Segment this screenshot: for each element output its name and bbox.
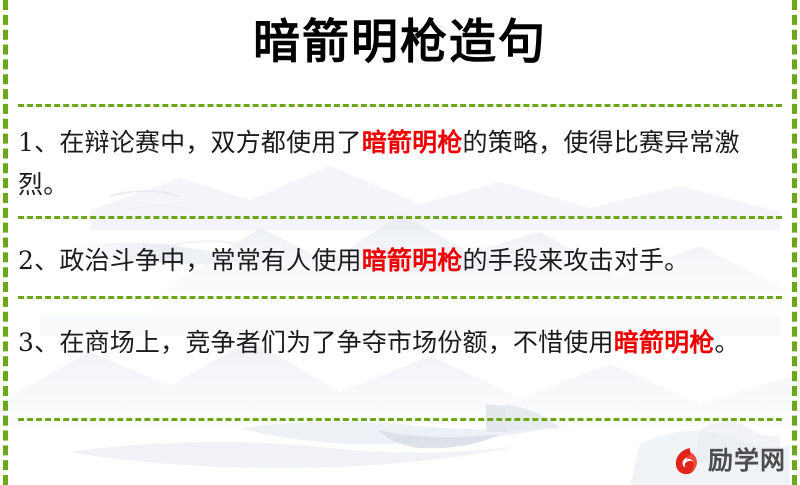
logo-text: 励学网 xyxy=(708,445,786,477)
separator-2 xyxy=(18,296,782,299)
sentence-card-page: 暗箭明枪造句 1、在辩论赛中，双方都使用了暗箭明枪的策略，使得比赛异常激烈。 2… xyxy=(0,0,800,485)
sentence-text-3-part-3: 。 xyxy=(715,328,740,357)
sentence-text-1-part-1: 在辩论赛中，双方都使用了 xyxy=(59,128,361,157)
idiom-highlight-3: 暗箭明枪 xyxy=(614,328,715,357)
frame-edge-right xyxy=(792,0,797,485)
separator-1 xyxy=(18,216,782,219)
separator-bottom xyxy=(18,418,782,421)
sentence-text-2-part-3: 的手段来攻击对手。 xyxy=(463,246,690,275)
sentence-item-3: 3、在商场上，竞争者们为了争夺市场份额，不惜使用暗箭明枪。 xyxy=(18,322,784,364)
sentence-item-2: 2、政治斗争中，常常有人使用暗箭明枪的手段来攻击对手。 xyxy=(18,240,784,282)
separator-top xyxy=(18,104,782,107)
idiom-highlight-2: 暗箭明枪 xyxy=(362,246,463,275)
site-logo[interactable]: 励学网 xyxy=(670,443,786,479)
sentence-item-1: 1、在辩论赛中，双方都使用了暗箭明枪的策略，使得比赛异常激烈。 xyxy=(18,122,784,206)
page-title: 暗箭明枪造句 xyxy=(0,12,800,74)
sentence-number-1: 1、 xyxy=(18,128,59,157)
flame-swirl-icon xyxy=(670,445,702,477)
sentence-text-2-part-1: 政治斗争中，常常有人使用 xyxy=(59,246,361,275)
sentence-number-3: 3、 xyxy=(18,328,59,357)
sentence-number-2: 2、 xyxy=(18,246,59,275)
frame-edge-left xyxy=(3,0,8,485)
sentence-text-3-part-1: 在商场上，竞争者们为了争夺市场份额，不惜使用 xyxy=(59,328,613,357)
idiom-highlight-1: 暗箭明枪 xyxy=(362,128,463,157)
